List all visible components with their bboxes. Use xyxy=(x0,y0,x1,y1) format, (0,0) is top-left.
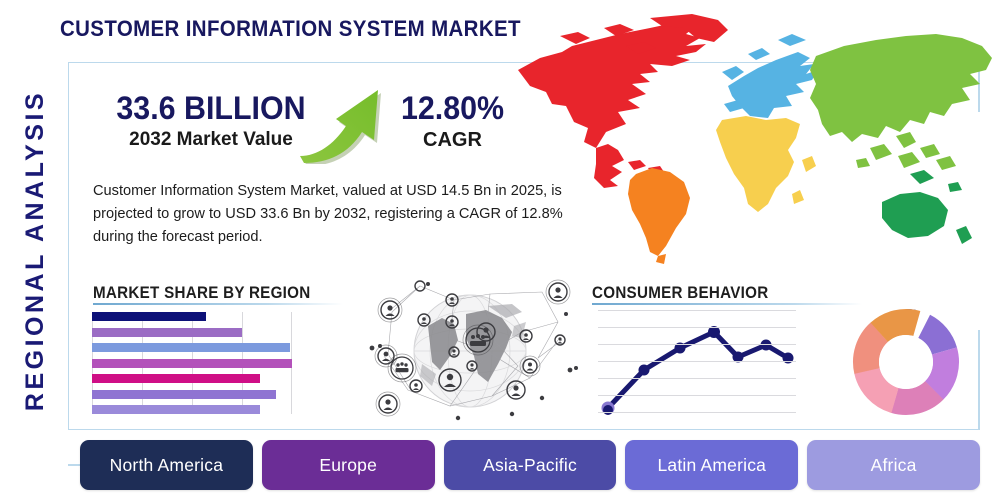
map-region-oceania xyxy=(882,170,972,244)
sidebar-label-text: REGIONAL ANALYSIS xyxy=(22,89,51,410)
global-network-illustration xyxy=(362,278,578,424)
market-value-number: 33.6 BILLION xyxy=(102,92,321,126)
page-title: CUSTOMER INFORMATION SYSTEM MARKET xyxy=(60,16,521,42)
market-value-stat: 33.6 BILLION 2032 Market Value xyxy=(96,92,326,151)
market-share-bar-chart xyxy=(92,312,292,414)
region-button-label: Latin America xyxy=(657,455,766,476)
bar-row xyxy=(92,343,290,352)
line-chart-gridlines xyxy=(598,310,796,415)
map-region-asia xyxy=(810,34,992,170)
region-button-label: North America xyxy=(110,455,223,476)
region-button-label: Europe xyxy=(319,455,377,476)
cagr-number: 12.80% xyxy=(388,92,516,126)
section-title-consumer-behavior: CONSUMER BEHAVIOR xyxy=(592,284,768,303)
infographic-canvas: REGIONAL ANALYSIS CUSTOMER INFORMATION S… xyxy=(0,0,1000,500)
region-button-asia-pacific[interactable]: Asia-Pacific xyxy=(444,440,617,490)
world-map xyxy=(500,8,995,270)
region-button-label: Asia-Pacific xyxy=(483,455,577,476)
region-button-north-america[interactable]: North America xyxy=(80,440,253,490)
region-button-europe[interactable]: Europe xyxy=(262,440,435,490)
region-button-africa[interactable]: Africa xyxy=(807,440,980,490)
map-region-europe xyxy=(722,34,818,118)
consumer-behavior-line-chart xyxy=(598,310,796,415)
section-title-market-share: MARKET SHARE BY REGION xyxy=(93,284,310,303)
bar-row xyxy=(92,328,242,337)
consumer-behavior-underline xyxy=(592,303,862,305)
region-button-label: Africa xyxy=(871,455,917,476)
bar-chart-bars xyxy=(92,312,292,414)
bar-row xyxy=(92,374,260,383)
bar-row xyxy=(92,312,206,321)
market-share-underline xyxy=(93,303,343,305)
bar-row xyxy=(92,359,292,368)
map-region-africa xyxy=(716,116,816,212)
frame-edge-bottom xyxy=(978,330,980,430)
growth-arrow-icon xyxy=(296,82,396,164)
sidebar-vertical-label: REGIONAL ANALYSIS xyxy=(8,0,64,500)
consumer-behavior-donut-chart xyxy=(852,308,960,416)
bar-row xyxy=(92,390,276,399)
region-button-latin-america[interactable]: Latin America xyxy=(625,440,798,490)
map-region-north-america xyxy=(518,14,728,188)
market-value-caption: 2032 Market Value xyxy=(96,129,326,151)
region-nav: North America Europe Asia-Pacific Latin … xyxy=(80,440,980,490)
bar-row xyxy=(92,405,260,414)
map-region-south-america xyxy=(628,168,690,264)
